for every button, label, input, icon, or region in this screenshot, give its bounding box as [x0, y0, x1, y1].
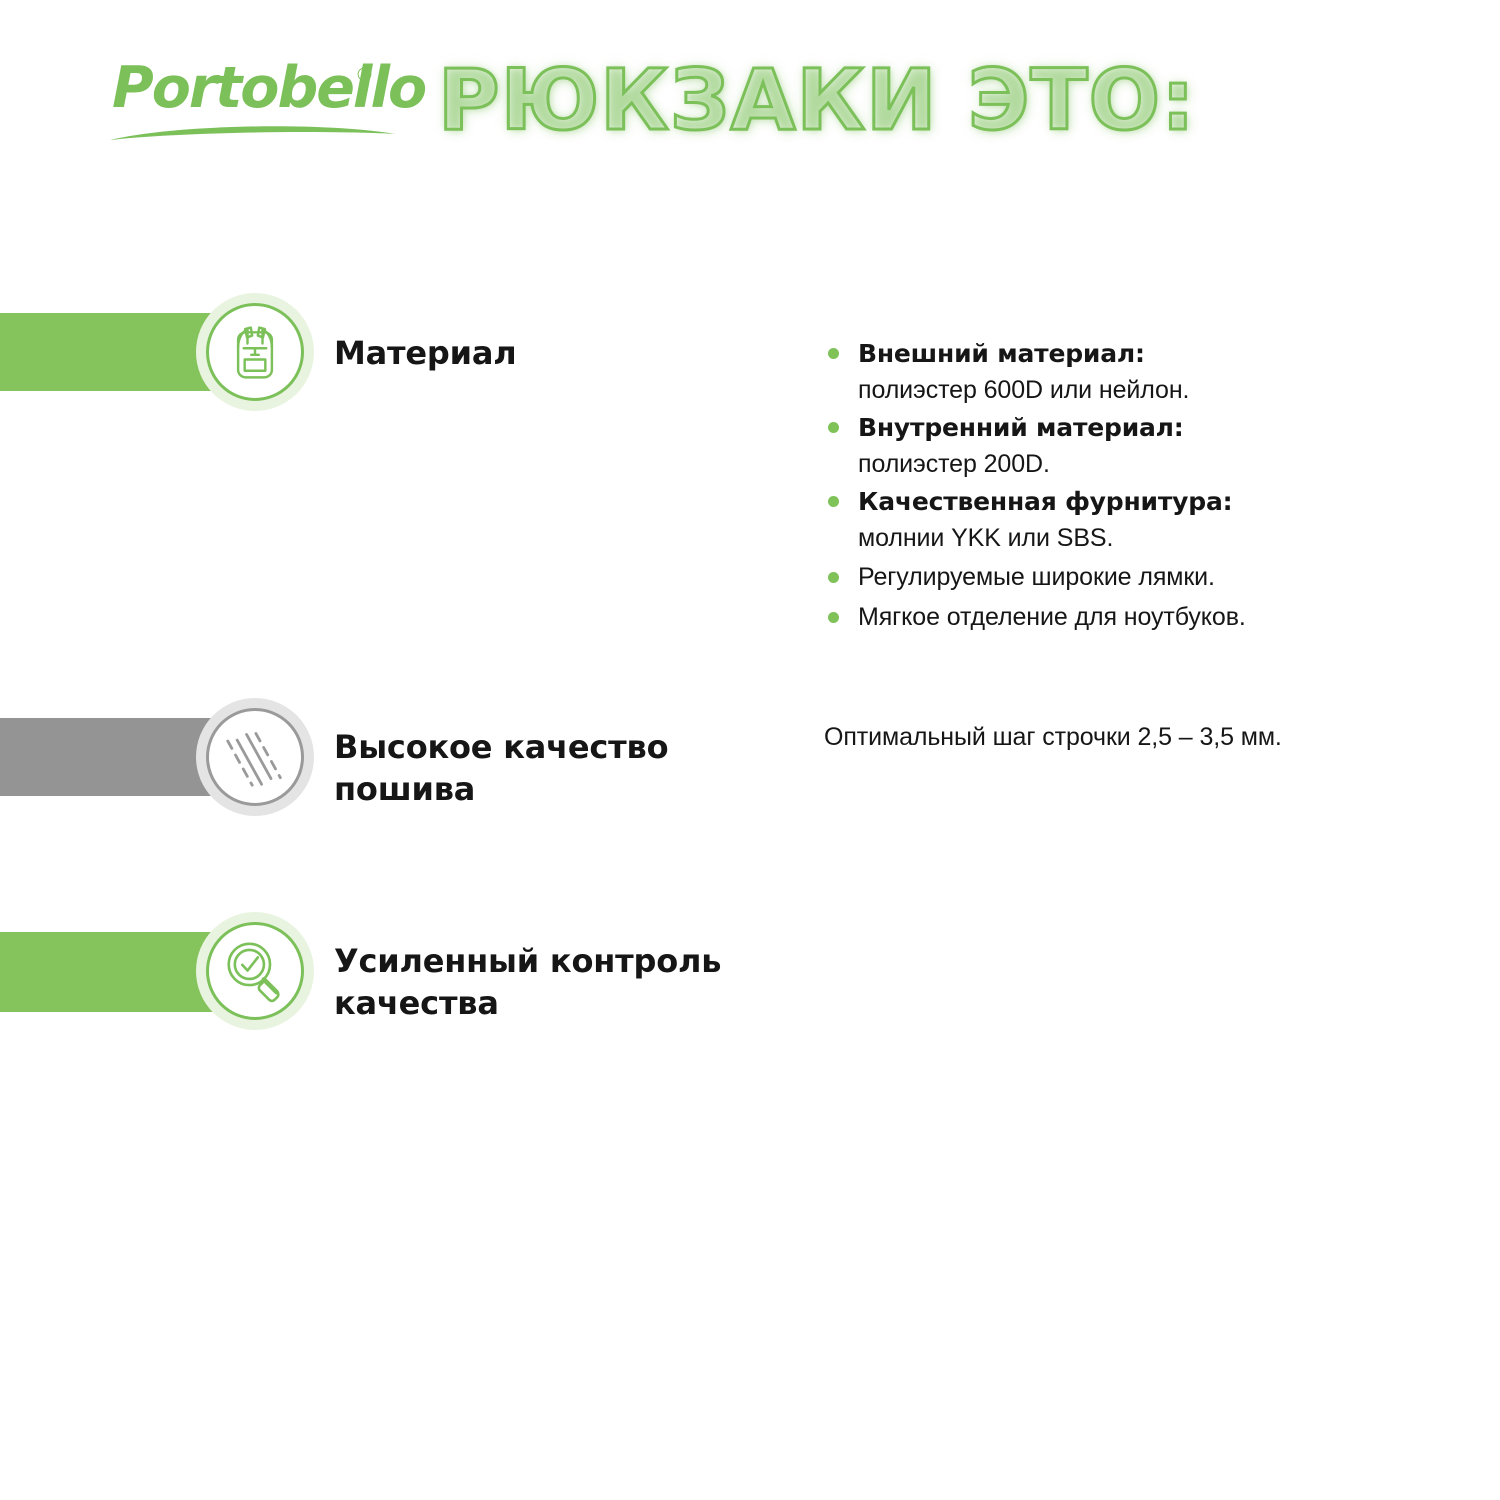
page-title-text: РЮКЗАКИ ЭТО: — [438, 46, 1198, 154]
list-item-title: Внешний материал: — [858, 336, 1444, 372]
list-item: Внутренний материал: полиэстер 200D. — [824, 410, 1444, 482]
stitch-note: Оптимальный шаг строчки 2,5 – 3,5 мм. — [824, 720, 1464, 754]
magnifier-check-icon — [209, 925, 301, 1017]
infographic-page: Portobello ® РЮКЗАКИ ЭТО: — [0, 0, 1500, 1500]
list-item: Регулируемые широкие лямки. — [824, 558, 1444, 596]
bullet-dot-icon — [828, 612, 839, 623]
section-title-material: Материал — [334, 332, 754, 374]
list-item: Внешний материал: полиэстер 600D или ней… — [824, 336, 1444, 408]
bullet-dot-icon — [828, 572, 839, 583]
page-title: РЮКЗАКИ ЭТО: — [438, 46, 1198, 158]
list-item: Качественная фурнитура: молнии YKK или S… — [824, 484, 1444, 556]
section-title-quality-control: Усиленный контроль качества — [334, 940, 764, 1024]
badge-ring-stitch — [206, 708, 304, 806]
bullet-dot-icon — [828, 348, 839, 359]
badge-ring-quality — [206, 922, 304, 1020]
backpack-icon — [209, 306, 301, 398]
list-item-detail: Регулируемые широкие лямки. — [858, 558, 1444, 596]
list-item-detail: полиэстер 200D. — [858, 446, 1444, 482]
portobello-logo: Portobello ® — [112, 58, 412, 150]
material-bullet-list: Внешний материал: полиэстер 600D или ней… — [824, 336, 1444, 638]
logo-wordmark: Portobello — [112, 60, 425, 117]
list-item-title: Качественная фурнитура: — [858, 484, 1444, 520]
bullet-dot-icon — [828, 422, 839, 433]
stitching-icon — [209, 711, 301, 803]
badge-ring-material — [206, 303, 304, 401]
logo-swoosh-icon — [108, 120, 398, 144]
section-title-stitch-quality: Высокое качество пошива — [334, 726, 734, 810]
list-item: Мягкое отделение для ноутбуков. — [824, 598, 1444, 636]
list-item-detail: полиэстер 600D или нейлон. — [858, 372, 1444, 408]
list-item-title: Внутренний материал: — [858, 410, 1444, 446]
list-item-detail: молнии YKK или SBS. — [858, 520, 1444, 556]
registered-trademark-icon: ® — [355, 66, 374, 85]
bullet-dot-icon — [828, 496, 839, 507]
list-item-detail: Мягкое отделение для ноутбуков. — [858, 598, 1444, 636]
